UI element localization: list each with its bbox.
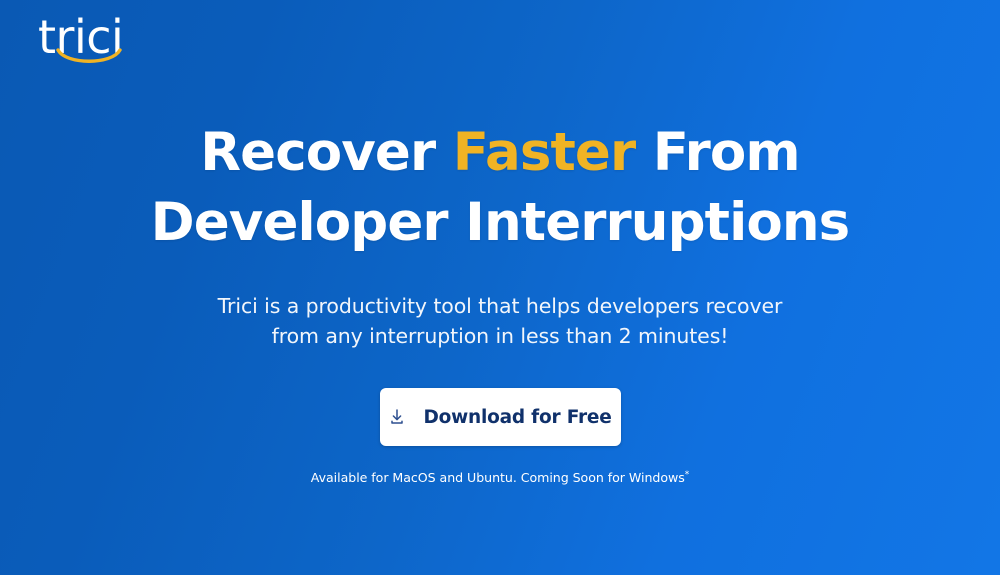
hero-section: trici Recover Faster From Developer Inte… (0, 0, 1000, 575)
site-logo[interactable]: trici (36, 8, 206, 70)
headline-text-from: From (635, 122, 800, 183)
footnote-asterisk: * (685, 470, 689, 480)
logo-wordmark: trici (38, 12, 123, 62)
cta-container: Download for Free (0, 388, 1000, 446)
headline-line-1: Recover Faster From (0, 118, 1000, 188)
availability-footnote: Available for MacOS and Ubuntu. Coming S… (0, 470, 1000, 485)
headline-accent-faster: Faster (453, 122, 635, 183)
page-title: Recover Faster From Developer Interrupti… (0, 118, 1000, 258)
download-icon (388, 408, 406, 426)
headline-line-2: Developer Interruptions (0, 188, 1000, 258)
subtitle-line-2: from any interruption in less than 2 min… (0, 321, 1000, 351)
headline-text-recover: Recover (200, 122, 452, 183)
subtitle-line-1: Trici is a productivity tool that helps … (0, 291, 1000, 321)
download-button-label: Download for Free (423, 407, 611, 428)
download-for-free-button[interactable]: Download for Free (380, 388, 621, 446)
footnote-text: Available for MacOS and Ubuntu. Coming S… (311, 470, 685, 485)
hero-subtitle: Trici is a productivity tool that helps … (0, 291, 1000, 351)
